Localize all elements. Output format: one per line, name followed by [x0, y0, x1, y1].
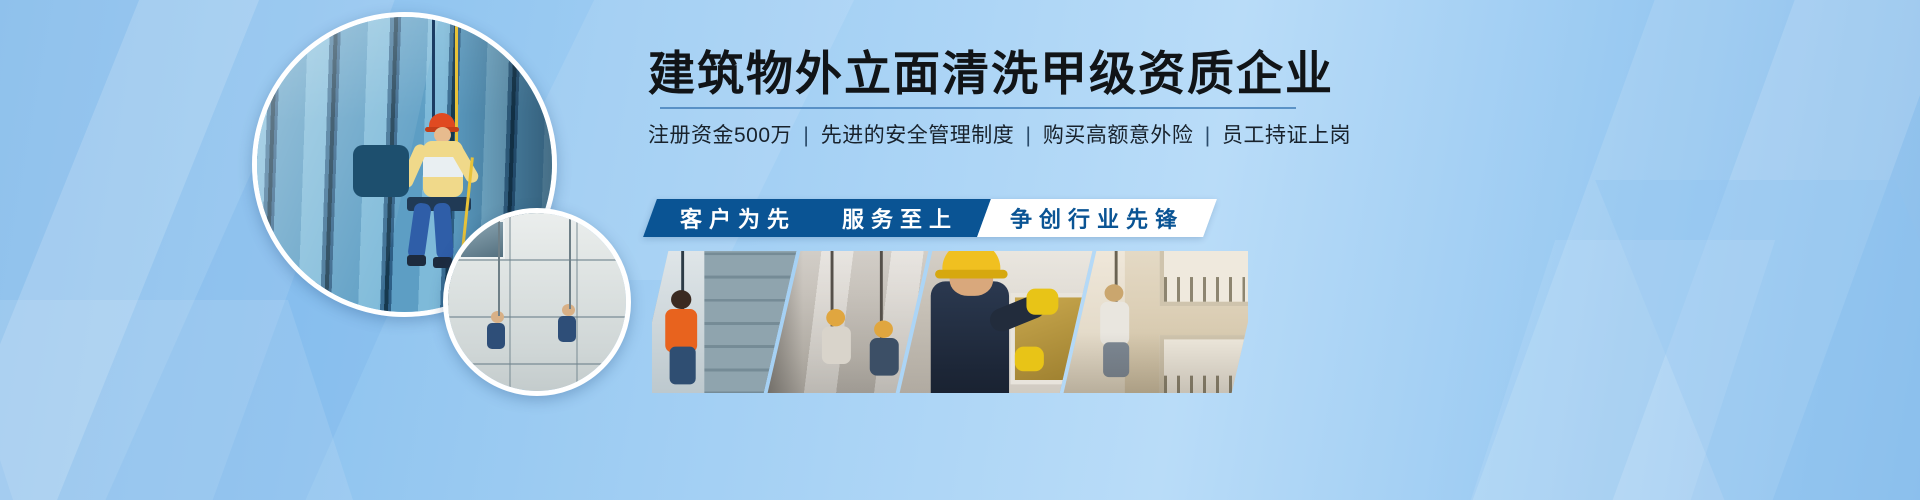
- panel3-worker-glove-lower: [1015, 347, 1044, 372]
- rope-worker-left-body: [487, 323, 505, 349]
- panel3-worker-helmet: [943, 251, 1001, 274]
- subtitle-item-2: 先进的安全管理制度: [821, 124, 1015, 147]
- slogan-item-3: 争创行业先锋: [1010, 202, 1184, 234]
- circle-photo-secondary: [443, 208, 631, 396]
- background-shape-4: [0, 300, 392, 500]
- background-shape-5: [1422, 0, 1920, 500]
- background-shape-2: [0, 0, 291, 500]
- promotional-banner: 建筑物外立面清洗甲级资质企业 注册资金500万 | 先进的安全管理制度 | 购买…: [0, 0, 1920, 500]
- worker-boot-left: [407, 255, 426, 266]
- subtitle-item-1: 注册资金500万: [648, 124, 792, 147]
- subtitle-separator-1: |: [798, 124, 814, 147]
- rope-worker-left-rope: [498, 213, 500, 316]
- subtitle: 注册资金500万 | 先进的安全管理制度 | 购买高额意外险 | 员工持证上岗: [648, 121, 1308, 150]
- subtitle-item-4: 员工持证上岗: [1222, 124, 1351, 147]
- photo-panel-4: [1064, 251, 1248, 393]
- panel3-worker-glove-upper: [1026, 289, 1058, 315]
- background-shape-7: [1595, 180, 1920, 500]
- panel2-worker-right: [870, 338, 899, 376]
- headline-block: 建筑物外立面清洗甲级资质企业 注册资金500万 | 先进的安全管理制度 | 购买…: [648, 48, 1308, 150]
- rope-worker-right-body: [558, 316, 576, 342]
- subtitle-item-3: 购买高额意外险: [1043, 124, 1194, 147]
- headline-divider: [660, 107, 1296, 109]
- safety-rope-yellow: [455, 12, 458, 157]
- photo-strip: [652, 251, 1248, 393]
- page-title: 建筑物外立面清洗甲级资质企业: [648, 48, 1308, 101]
- wall-joint-vline-2: [576, 213, 578, 391]
- slogan-ribbon-blue-section: 客户为先 服务至上: [643, 199, 991, 237]
- photo-panel-4-image: [1064, 251, 1248, 393]
- slogan-item-2: 服务至上: [842, 202, 958, 234]
- panel4-shadow: [1064, 251, 1248, 393]
- background-shape-9: [1445, 240, 1775, 500]
- background-shape-6: [1569, 0, 1920, 500]
- panel1-worker-legs: [670, 347, 696, 385]
- panel3-worker-body: [931, 281, 1009, 393]
- slogan-item-1: 客户为先: [680, 202, 796, 234]
- wall-joint-vline-1: [509, 213, 511, 391]
- photo-panel-3: [900, 251, 1093, 393]
- subtitle-separator-3: |: [1200, 124, 1216, 147]
- photo-panel-3-image: [900, 251, 1093, 393]
- slogan-ribbon: 客户为先 服务至上 争创行业先锋: [643, 199, 1217, 237]
- wall-joint-line-2: [448, 316, 626, 318]
- wall-joint-line-3: [448, 363, 626, 365]
- equipment-bag: [353, 145, 409, 197]
- circle-photo-secondary-image: [448, 213, 626, 391]
- wall-joint-line-1: [448, 259, 626, 261]
- subtitle-separator-2: |: [1021, 124, 1037, 147]
- slogan-ribbon-white-section: 争创行业先锋: [977, 199, 1217, 237]
- rope-worker-right-rope: [569, 213, 571, 309]
- safety-rope-main: [432, 12, 435, 127]
- panel2-worker-left: [822, 326, 851, 364]
